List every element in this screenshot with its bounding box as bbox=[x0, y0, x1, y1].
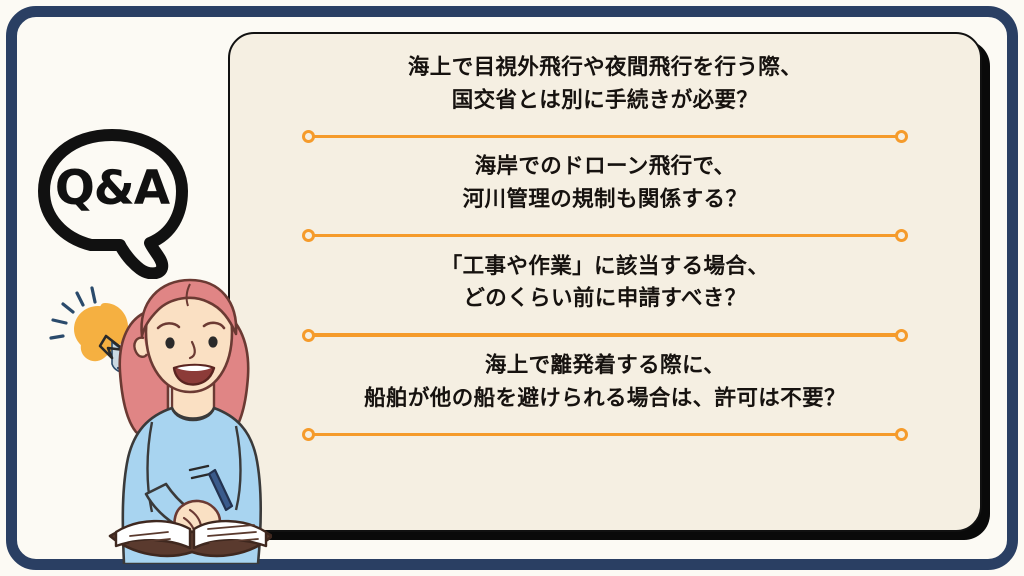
divider-dot-left bbox=[302, 329, 315, 342]
qa-divider-3 bbox=[302, 325, 908, 345]
qa-item-2: 海岸でのドローン飛行で、 河川管理の規制も関係する？ bbox=[230, 151, 980, 250]
qa-item-4: 海上で離発着する際に、 船舶が他の船を避けられる場合は、許可は不要？ bbox=[230, 350, 980, 449]
qa-card: 海上で目視外飛行や夜間飛行を行う際、 国交省とは別に手続きが必要？ 海岸でのドロ… bbox=[228, 32, 982, 532]
qa-question-text: 海上で目視外飛行や夜間飛行を行う際、 国交省とは別に手続きが必要？ bbox=[230, 52, 980, 117]
qa-divider-4 bbox=[302, 424, 908, 444]
divider-bar bbox=[308, 135, 902, 139]
divider-dot-right bbox=[895, 130, 908, 143]
qa-question-text: 海上で離発着する際に、 船舶が他の船を避けられる場合は、許可は不要？ bbox=[230, 350, 980, 415]
divider-bar bbox=[308, 433, 902, 437]
divider-dot-right bbox=[895, 428, 908, 441]
qa-item-1: 海上で目視外飛行や夜間飛行を行う際、 国交省とは別に手続きが必要？ bbox=[230, 52, 980, 151]
divider-dot-right bbox=[895, 329, 908, 342]
qa-badge: Q&A bbox=[36, 129, 196, 279]
divider-dot-left bbox=[302, 428, 315, 441]
qa-item-3: 「工事や作業」に該当する場合、 どのくらい前に申請すべき？ bbox=[230, 251, 980, 350]
qa-divider-2 bbox=[302, 226, 908, 246]
divider-dot-right bbox=[895, 229, 908, 242]
slide-canvas: 海上で目視外飛行や夜間飛行を行う際、 国交省とは別に手続きが必要？ 海岸でのドロ… bbox=[0, 0, 1024, 576]
qa-badge-label: Q&A bbox=[36, 129, 188, 247]
divider-dot-left bbox=[302, 130, 315, 143]
qa-question-text: 海岸でのドローン飛行で、 河川管理の規制も関係する？ bbox=[230, 151, 980, 216]
qa-question-text: 「工事や作業」に該当する場合、 どのくらい前に申請すべき？ bbox=[230, 251, 980, 316]
divider-dot-left bbox=[302, 229, 315, 242]
divider-bar bbox=[308, 333, 902, 337]
illustration-group bbox=[32, 278, 272, 570]
qa-divider-1 bbox=[302, 126, 908, 146]
divider-bar bbox=[308, 234, 902, 238]
qa-list: 海上で目視外飛行や夜間飛行を行う際、 国交省とは別に手続きが必要？ 海岸でのドロ… bbox=[230, 34, 980, 530]
